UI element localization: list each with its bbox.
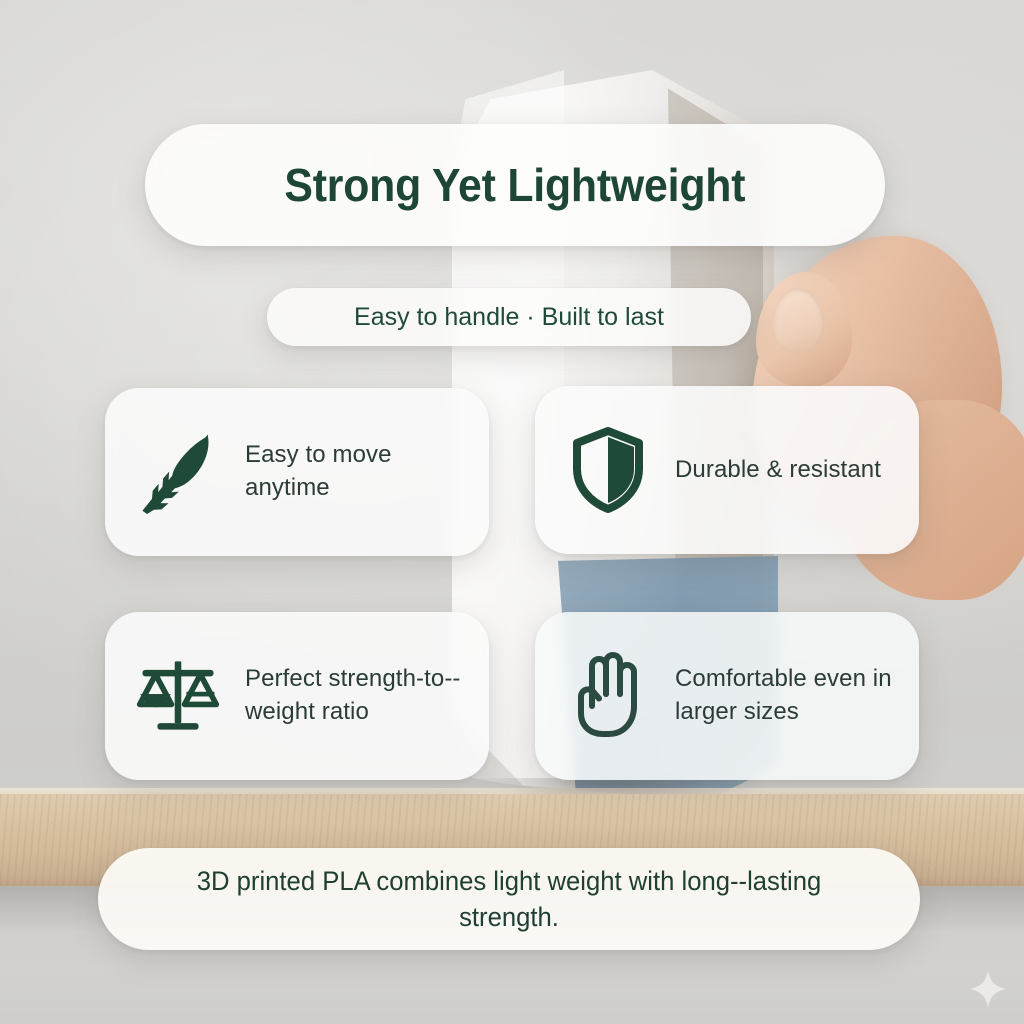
poster-canvas: Strong Yet Lightweight Easy to handle · …	[0, 0, 1024, 1024]
page-title: Strong Yet Lightweight	[285, 158, 746, 212]
feature-card-label: Easy to move anytime	[245, 439, 463, 504]
feature-card-label: Perfect strength-to--weight ratio	[245, 663, 463, 728]
shield-icon	[565, 424, 651, 516]
feature-card-durable[interactable]: Durable & resistant	[535, 386, 919, 554]
sparkle-icon	[970, 970, 1006, 1008]
page-subtitle: Easy to handle · Built to last	[354, 303, 664, 332]
title-pill: Strong Yet Lightweight	[145, 124, 885, 246]
balance-scale-icon	[135, 650, 221, 742]
feature-card-strength-to-weight[interactable]: Perfect strength-to--weight ratio	[105, 612, 489, 780]
overlay-layer: Strong Yet Lightweight Easy to handle · …	[0, 0, 1024, 1024]
footer-pill: 3D printed PLA combines light weight wit…	[98, 848, 920, 950]
footer-text: 3D printed PLA combines light weight wit…	[168, 863, 850, 935]
feather-icon	[135, 426, 221, 518]
hand-icon	[565, 650, 651, 742]
subtitle-pill: Easy to handle · Built to last	[267, 288, 751, 346]
feature-card-label: Comfortable even in larger sizes	[675, 663, 893, 728]
feature-card-comfortable[interactable]: Comfortable even in larger sizes	[535, 612, 919, 780]
feature-card-label: Durable & resistant	[675, 454, 881, 487]
feature-card-easy-to-move[interactable]: Easy to move anytime	[105, 388, 489, 556]
